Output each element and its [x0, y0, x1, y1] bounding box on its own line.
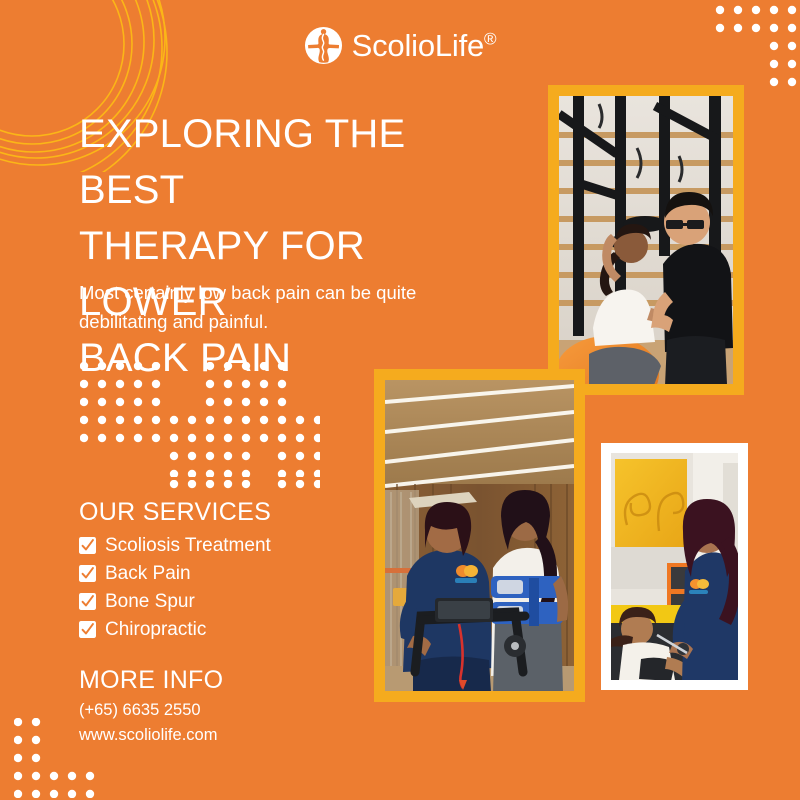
contact-phone[interactable]: (+65) 6635 2550: [79, 701, 201, 720]
photo-image: [385, 380, 574, 691]
service-label: Bone Spur: [105, 592, 195, 611]
headline-line-1: EXPLORING THE BEST: [79, 112, 405, 212]
list-item[interactable]: Bone Spur: [79, 587, 399, 615]
checkbox-checked-icon[interactable]: [79, 621, 96, 638]
service-label: Chiropractic: [105, 620, 206, 639]
checkbox-checked-icon[interactable]: [79, 593, 96, 610]
brand-logo[interactable]: ScolioLife®: [0, 26, 800, 65]
checkbox-checked-icon[interactable]: [79, 565, 96, 582]
services-list: Scoliosis Treatment Back Pain Bone Spur …: [79, 531, 399, 643]
list-item[interactable]: Back Pain: [79, 559, 399, 587]
poster-canvas: ScolioLife® EXPLORING THE BEST THERAPY F…: [0, 0, 800, 800]
checkbox-checked-icon[interactable]: [79, 537, 96, 554]
trademark-symbol: ®: [484, 30, 496, 49]
service-label: Back Pain: [105, 564, 191, 583]
brand-name: ScolioLife®: [352, 30, 497, 61]
contact-website[interactable]: www.scoliolife.com: [79, 726, 217, 745]
services-heading: OUR SERVICES: [79, 498, 271, 527]
list-item[interactable]: Chiropractic: [79, 615, 399, 643]
service-label: Scoliosis Treatment: [105, 536, 271, 555]
photo-gym-training: [548, 85, 744, 395]
headline-line-3: BACK PAIN: [79, 336, 291, 380]
photo-image: [559, 96, 733, 384]
photo-image: [611, 453, 738, 680]
subheading: Most certainly low back pain can be quit…: [79, 278, 459, 336]
subheading-line-2: debilitating and painful.: [79, 311, 268, 332]
spine-figure-circle-icon: [304, 26, 343, 65]
list-item[interactable]: Scoliosis Treatment: [79, 531, 399, 559]
photo-treadmill-consultation: [374, 369, 585, 702]
subheading-line-1: Most certainly low back pain can be quit…: [79, 282, 416, 303]
page-title: EXPLORING THE BEST THERAPY FOR LOWER BAC…: [79, 106, 509, 386]
photo-brace-fitting: [601, 443, 748, 690]
contact-heading: MORE INFO: [79, 666, 223, 695]
